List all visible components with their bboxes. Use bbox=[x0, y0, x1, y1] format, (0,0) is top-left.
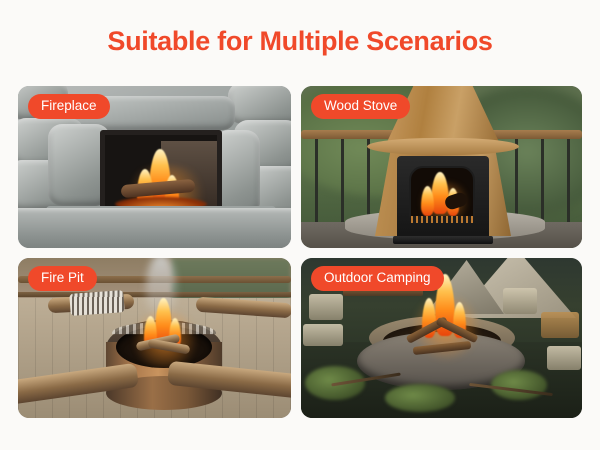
stove-window bbox=[409, 166, 475, 218]
scenario-card-grid: Fireplace bbox=[18, 86, 582, 418]
scenario-card-outdoor-camping[interactable]: Outdoor Camping bbox=[301, 258, 582, 418]
scenario-card-fireplace[interactable]: Fireplace bbox=[18, 86, 291, 248]
badge-fire-pit: Fire Pit bbox=[28, 266, 97, 291]
badge-outdoor-camping: Outdoor Camping bbox=[311, 266, 444, 291]
page-title: Suitable for Multiple Scenarios bbox=[0, 26, 600, 57]
badge-wood-stove: Wood Stove bbox=[311, 94, 410, 119]
badge-fireplace: Fireplace bbox=[28, 94, 110, 119]
scenario-gallery-page: Suitable for Multiple Scenarios bbox=[0, 0, 600, 450]
scenario-card-fire-pit[interactable]: Fire Pit bbox=[18, 258, 291, 418]
scenario-card-wood-stove[interactable]: Wood Stove bbox=[301, 86, 582, 248]
firebox bbox=[100, 130, 222, 218]
